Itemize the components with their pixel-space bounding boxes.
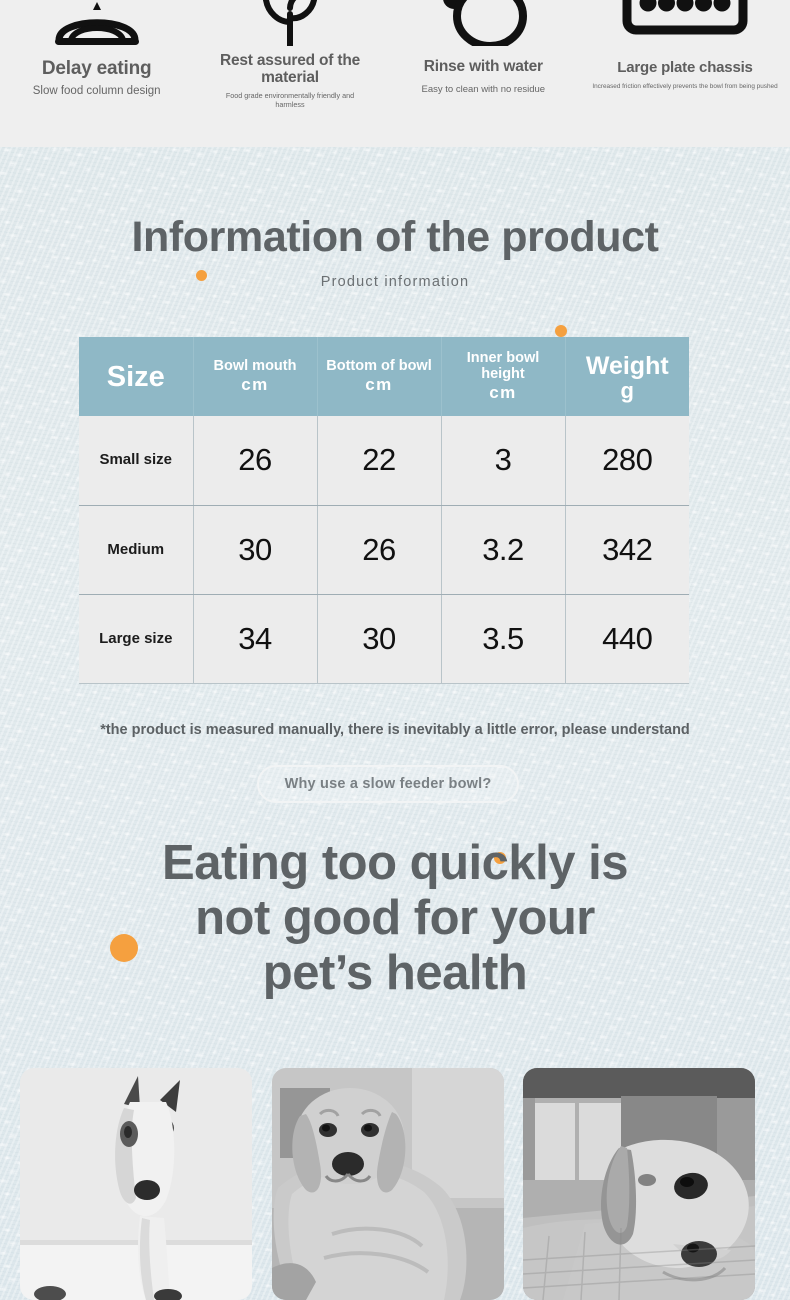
feature-delay-eating: Delay eating Slow food column design bbox=[0, 0, 193, 98]
headline-line-2: not good for your bbox=[0, 891, 790, 946]
table-header-bottom-of-bowl: Bottom of bowl cm bbox=[317, 337, 441, 416]
health-headline: Eating too quickly is not good for your … bbox=[0, 836, 790, 1001]
dome-bowl-cover-icon bbox=[0, 0, 193, 46]
table-header-bowl-mouth: Bowl mouth cm bbox=[193, 337, 317, 416]
cell-weight: 280 bbox=[565, 416, 689, 505]
feature-title: Delay eating bbox=[0, 58, 193, 80]
header-unit-text: cm bbox=[196, 375, 315, 395]
cell-weight: 342 bbox=[565, 505, 689, 594]
table-row: Medium 30 26 3.2 342 bbox=[79, 505, 689, 594]
header-main-text: Weight bbox=[568, 352, 688, 380]
measurement-disclaimer: *the product is measured manually, there… bbox=[0, 722, 790, 738]
cell-bowl-mouth: 30 bbox=[193, 505, 317, 594]
dog-photo-gallery bbox=[0, 1068, 790, 1300]
header-main-text: Bottom of bowl bbox=[320, 358, 439, 374]
cell-inner-bowl-height: 3.2 bbox=[441, 505, 565, 594]
cell-bottom-of-bowl: 30 bbox=[317, 594, 441, 683]
header-main-text: Bowl mouth bbox=[196, 358, 315, 374]
product-infographic-page: Delay eating Slow food column design Res… bbox=[0, 0, 790, 1300]
feature-subtitle: Food grade environmentally friendly and … bbox=[212, 91, 367, 109]
feature-chassis: Large plate chassis Increased friction e… bbox=[580, 0, 790, 91]
header-main-text: Inner bowl height bbox=[444, 350, 563, 382]
orange-dot-icon bbox=[555, 325, 567, 337]
feature-material: Rest assured of the material Food grade … bbox=[193, 0, 386, 109]
cell-bowl-mouth: 26 bbox=[193, 416, 317, 505]
thin-dog-photo bbox=[20, 1068, 252, 1300]
row-label: Medium bbox=[79, 505, 193, 594]
table-header-row: Size Bowl mouth cm Bottom of bowl cm Inn… bbox=[79, 337, 689, 416]
product-spec-table: Size Bowl mouth cm Bottom of bowl cm Inn… bbox=[79, 337, 689, 684]
feature-title: Large plate chassis bbox=[580, 59, 790, 76]
feature-subtitle: Increased friction effectively prevents … bbox=[580, 83, 790, 91]
feature-subtitle: Easy to clean with no residue bbox=[396, 84, 571, 96]
section-heading-block: Information of the product Product infor… bbox=[0, 211, 790, 290]
table-header-weight: Weight g bbox=[565, 337, 689, 416]
why-slow-feeder-button[interactable]: Why use a slow feeder bowl? bbox=[257, 765, 519, 803]
header-unit-text: g bbox=[568, 381, 688, 401]
header-main-text: Size bbox=[81, 360, 191, 394]
sprout-leaf-icon bbox=[193, 0, 386, 46]
overweight-dog-photo bbox=[272, 1068, 504, 1300]
table-header-size: Size bbox=[79, 337, 193, 416]
large-plate-chassis-icon bbox=[580, 0, 790, 46]
header-unit-text: cm bbox=[444, 383, 563, 403]
row-label: Small size bbox=[79, 416, 193, 505]
feature-title: Rest assured of the material bbox=[193, 52, 386, 86]
cell-bowl-mouth: 34 bbox=[193, 594, 317, 683]
cell-inner-bowl-height: 3.5 bbox=[441, 594, 565, 683]
page-title: Information of the product bbox=[0, 211, 790, 263]
page-subtitle: Product information bbox=[0, 274, 790, 290]
table-row: Small size 26 22 3 280 bbox=[79, 416, 689, 505]
feature-rinse: Rinse with water Easy to clean with no r… bbox=[387, 0, 580, 96]
cell-weight: 440 bbox=[565, 594, 689, 683]
table-header-inner-bowl-height: Inner bowl height cm bbox=[441, 337, 565, 416]
cell-inner-bowl-height: 3 bbox=[441, 416, 565, 505]
row-label: Large size bbox=[79, 594, 193, 683]
resting-dog-photo bbox=[523, 1068, 755, 1300]
feature-highlights-band: Delay eating Slow food column design Res… bbox=[0, 0, 790, 147]
feature-subtitle: Slow food column design bbox=[27, 84, 167, 98]
table-row: Large size 34 30 3.5 440 bbox=[79, 594, 689, 683]
water-drop-rinse-icon bbox=[387, 0, 580, 46]
headline-line-1: Eating too quickly is bbox=[0, 836, 790, 891]
cell-bottom-of-bowl: 22 bbox=[317, 416, 441, 505]
header-unit-text: cm bbox=[320, 375, 439, 395]
headline-line-3: pet’s health bbox=[0, 946, 790, 1001]
cell-bottom-of-bowl: 26 bbox=[317, 505, 441, 594]
feature-title: Rinse with water bbox=[387, 58, 580, 75]
